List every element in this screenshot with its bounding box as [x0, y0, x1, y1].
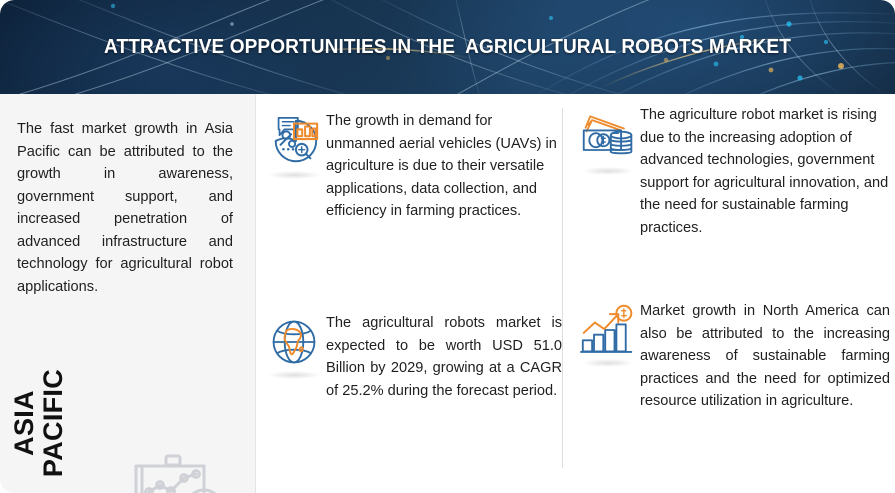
icon-shadow	[268, 371, 320, 379]
presentation-chart-magnifier-icon	[122, 452, 238, 493]
card-namerica-icon-wrap	[576, 300, 640, 413]
card-uav-text: The growth in demand for unmanned aerial…	[326, 110, 562, 223]
page-title: ATTRACTIVE OPPORTUNITIES IN THE AGRICULT…	[31, 0, 863, 94]
money-banknote-coins-icon	[580, 108, 636, 164]
card-adoption-icon-wrap	[576, 104, 640, 240]
asia-pacific-paragraph: The fast market growth in Asia Pacific c…	[17, 118, 233, 298]
region-label: ASIA PACIFIC	[10, 348, 68, 493]
card-adoption-text: The agriculture robot market is rising d…	[640, 104, 890, 240]
content-area: The fast market growth in Asia Pacific c…	[0, 94, 895, 493]
card-market-value: The agricultural robots market is expect…	[262, 312, 562, 402]
card-north-america: Market growth in North America can also …	[576, 300, 890, 413]
icon-shadow	[582, 167, 634, 175]
pie-chart-percent-bar-icon	[267, 114, 321, 168]
globe-icon	[268, 316, 320, 368]
left-region-panel: The fast market growth in Asia Pacific c…	[0, 94, 255, 493]
card-namerica-text: Market growth in North America can also …	[640, 300, 890, 413]
card-uav-demand: The growth in demand for unmanned aerial…	[262, 110, 562, 223]
divider-left	[255, 94, 256, 493]
growth-bar-chart-dollar-icon	[580, 304, 636, 356]
header-banner: ATTRACTIVE OPPORTUNITIES IN THE AGRICULT…	[0, 0, 895, 94]
divider-middle	[562, 108, 563, 468]
infographic-container: ATTRACTIVE OPPORTUNITIES IN THE AGRICULT…	[0, 0, 895, 493]
icon-shadow	[582, 359, 634, 367]
card-uav-icon-wrap	[262, 110, 326, 223]
card-adoption: The agriculture robot market is rising d…	[576, 104, 890, 240]
card-value-text: The agricultural robots market is expect…	[326, 312, 562, 402]
card-value-icon-wrap	[262, 312, 326, 402]
icon-shadow	[268, 171, 320, 179]
